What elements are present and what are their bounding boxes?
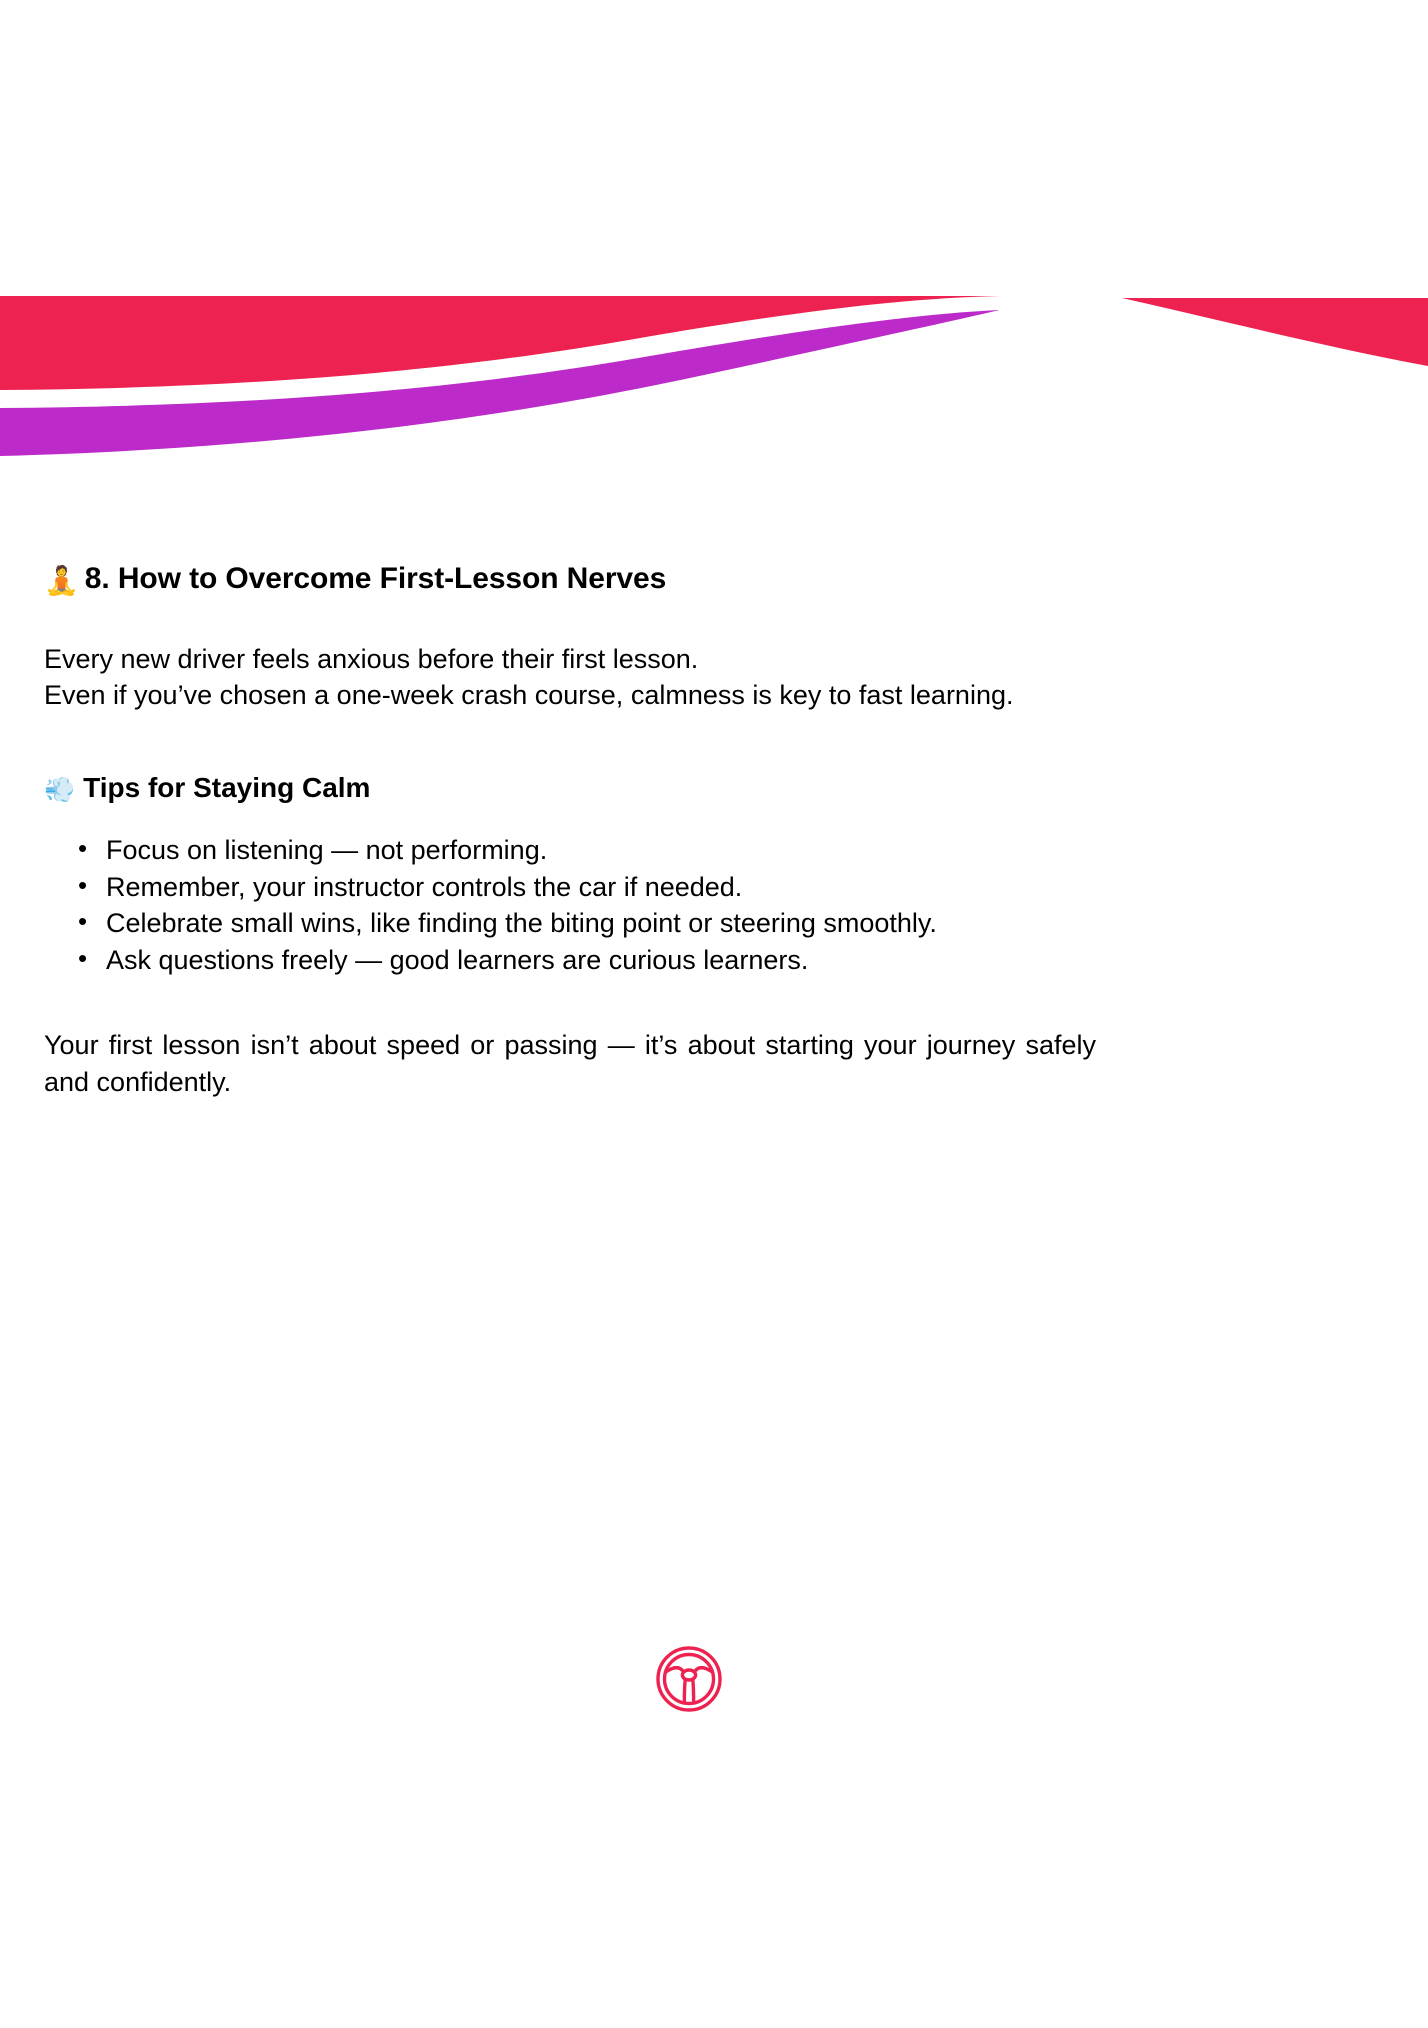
document-page: 🧘8. How to Overcome First-Lesson Nerves … bbox=[0, 0, 1428, 2028]
tips-section-heading: 💨Tips for Staying Calm bbox=[44, 770, 1096, 807]
intro-line-1: Every new driver feels anxious before th… bbox=[44, 642, 1096, 678]
document-content: 🧘8. How to Overcome First-Lesson Nerves … bbox=[44, 560, 1096, 1100]
banner-purple-wave bbox=[0, 310, 1000, 456]
tips-list: Focus on listening — not performing. Rem… bbox=[44, 832, 1096, 979]
person-in-lotus-position-icon: 🧘 bbox=[44, 565, 79, 596]
closing-paragraph: Your first lesson isn’t about speed or p… bbox=[44, 1027, 1096, 1100]
list-item: Remember, your instructor controls the c… bbox=[106, 869, 1096, 906]
list-item: Celebrate small wins, like finding the b… bbox=[106, 905, 1096, 942]
intro-paragraph: Every new driver feels anxious before th… bbox=[44, 642, 1096, 713]
decorative-wave-banner bbox=[0, 280, 1428, 480]
tips-section-heading-text: Tips for Staying Calm bbox=[83, 772, 370, 803]
banner-red-wave-left bbox=[0, 296, 1000, 390]
dashing-away-icon: 💨 bbox=[44, 776, 75, 804]
banner-red-wave-right bbox=[1122, 298, 1428, 366]
steering-wheel-hub bbox=[682, 1670, 695, 1680]
page-title-text: 8. How to Overcome First-Lesson Nerves bbox=[85, 562, 666, 595]
steering-wheel-spoke-bottom bbox=[684, 1679, 685, 1703]
list-item: Focus on listening — not performing. bbox=[106, 832, 1096, 869]
list-item: Ask questions freely — good learners are… bbox=[106, 942, 1096, 979]
intro-line-2: Even if you’ve chosen a one-week crash c… bbox=[44, 678, 1096, 714]
page-title: 🧘8. How to Overcome First-Lesson Nerves bbox=[44, 560, 1096, 598]
steering-wheel-logo bbox=[655, 1645, 723, 1713]
steering-wheel-spoke-bottom-2 bbox=[693, 1679, 694, 1703]
